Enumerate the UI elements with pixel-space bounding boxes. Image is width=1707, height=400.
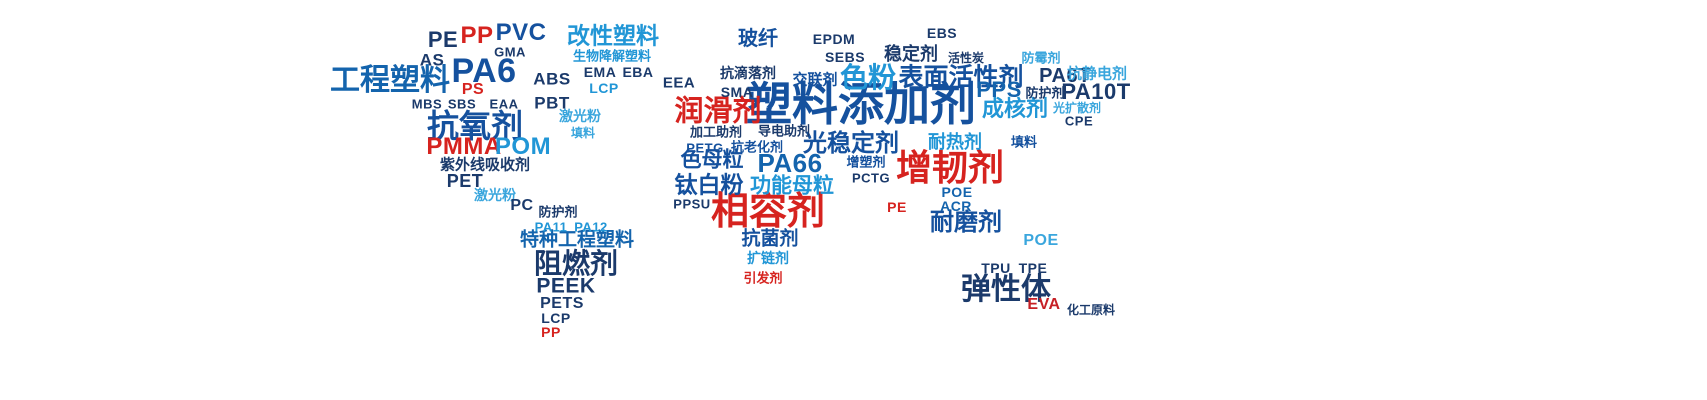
word-cloud-term[interactable]: PVC bbox=[496, 21, 547, 45]
word-cloud-term[interactable]: PE bbox=[428, 29, 458, 51]
word-cloud-term[interactable]: 抗菌剂 bbox=[741, 230, 798, 249]
word-cloud-term[interactable]: EAA bbox=[490, 98, 519, 111]
word-cloud-term[interactable]: SBS bbox=[448, 98, 476, 111]
word-cloud-term[interactable]: 抗老化剂 bbox=[731, 142, 783, 155]
word-cloud-term[interactable]: PCTG bbox=[852, 172, 890, 185]
word-cloud-term[interactable]: 耐热剂 bbox=[928, 134, 982, 152]
word-cloud-term[interactable]: 活性炭 bbox=[948, 52, 984, 64]
word-cloud-term[interactable]: EBA bbox=[622, 65, 653, 79]
word-cloud-term[interactable]: 激光粉 bbox=[559, 110, 601, 124]
word-cloud-term[interactable]: 填料 bbox=[1011, 137, 1037, 150]
word-cloud-term[interactable]: 抗静电剂 bbox=[1067, 67, 1127, 82]
word-cloud-term[interactable]: LCP bbox=[589, 81, 619, 95]
word-cloud-term[interactable]: EPDM bbox=[813, 32, 855, 46]
word-cloud-term[interactable]: TPU bbox=[981, 261, 1011, 275]
word-cloud-term[interactable]: 交联剂 bbox=[792, 73, 837, 88]
word-cloud-term[interactable]: 导电助剂 bbox=[758, 126, 810, 139]
word-cloud-term[interactable]: GMA bbox=[494, 46, 526, 59]
word-cloud-term[interactable]: 增韧剂 bbox=[896, 151, 1004, 187]
word-cloud-term[interactable]: EBS bbox=[927, 26, 957, 40]
word-cloud-term[interactable]: 光稳定剂 bbox=[803, 131, 899, 155]
word-cloud-term[interactable]: 工程塑料 bbox=[330, 66, 450, 96]
word-cloud-term[interactable]: PE bbox=[887, 200, 907, 214]
word-cloud-term[interactable]: MBS bbox=[412, 98, 442, 111]
word-cloud-term[interactable]: EEA bbox=[663, 76, 695, 91]
word-cloud-term[interactable]: PA12 bbox=[574, 221, 608, 234]
word-cloud-term[interactable]: 光扩散剂 bbox=[1053, 102, 1101, 114]
word-cloud-term[interactable]: SEBS bbox=[825, 50, 865, 64]
word-cloud-term[interactable]: 生物降解塑料 bbox=[573, 51, 651, 64]
word-cloud-term[interactable]: PP bbox=[460, 24, 493, 48]
word-cloud-term[interactable]: PA11 bbox=[535, 221, 568, 234]
word-cloud-term[interactable]: EVA bbox=[1027, 297, 1060, 313]
word-cloud-term[interactable]: 增塑剂 bbox=[846, 157, 885, 170]
word-cloud-term[interactable]: 防护剂 bbox=[1025, 88, 1064, 101]
word-cloud-term[interactable]: PETG bbox=[686, 142, 723, 155]
word-cloud-term[interactable]: SMA bbox=[721, 85, 754, 99]
word-cloud-term[interactable]: TPE bbox=[1019, 261, 1048, 275]
word-cloud-term[interactable]: EMA bbox=[584, 65, 617, 79]
word-cloud-term[interactable]: PP bbox=[541, 325, 561, 339]
word-cloud-term[interactable]: 引发剂 bbox=[743, 273, 782, 286]
word-cloud-term[interactable]: 润滑剂 bbox=[674, 97, 761, 126]
word-cloud-term[interactable]: ACR bbox=[940, 199, 972, 213]
word-cloud-term[interactable]: PC bbox=[510, 198, 533, 214]
word-cloud-term[interactable]: ABS bbox=[533, 71, 570, 88]
word-cloud-term[interactable]: AS bbox=[420, 52, 445, 69]
word-cloud-term[interactable]: 防霉剂 bbox=[1021, 53, 1060, 66]
word-cloud-term[interactable]: POE bbox=[941, 185, 972, 199]
word-cloud-term[interactable]: LCP bbox=[541, 311, 571, 325]
word-cloud-term[interactable]: 成核剂 bbox=[982, 99, 1048, 121]
word-cloud-term[interactable]: 色粉 bbox=[840, 64, 896, 92]
word-cloud-term[interactable]: 扩链剂 bbox=[747, 252, 789, 266]
word-cloud-canvas: 塑料添加剂相容剂增韧剂工程塑料抗氧剂润滑剂PA6弹性体阻燃剂色粉表面活性剂PMM… bbox=[0, 0, 1707, 400]
word-cloud-term[interactable]: CPE bbox=[1065, 115, 1093, 128]
word-cloud-term[interactable]: 抗滴落剂 bbox=[720, 67, 776, 81]
word-cloud-term[interactable]: 填料 bbox=[571, 127, 595, 139]
word-cloud-term[interactable]: 玻纤 bbox=[738, 28, 778, 48]
word-cloud-term[interactable]: 防护剂 bbox=[538, 207, 577, 220]
word-cloud-term[interactable]: 加工助剂 bbox=[690, 127, 742, 140]
word-cloud-term[interactable]: 改性塑料 bbox=[567, 26, 659, 49]
word-cloud-term[interactable]: 稳定剂 bbox=[884, 46, 938, 64]
word-cloud-term[interactable]: 功能母粒 bbox=[750, 176, 834, 197]
word-cloud-term[interactable]: 钛白粉 bbox=[675, 175, 744, 198]
word-cloud-term[interactable]: 化工原料 bbox=[1067, 304, 1115, 316]
word-cloud-term[interactable]: POE bbox=[1023, 233, 1058, 249]
word-cloud-term[interactable]: PPS bbox=[976, 79, 1022, 101]
word-cloud-term[interactable]: PPSU bbox=[673, 198, 710, 211]
word-cloud-term[interactable]: PEEK bbox=[536, 276, 595, 297]
